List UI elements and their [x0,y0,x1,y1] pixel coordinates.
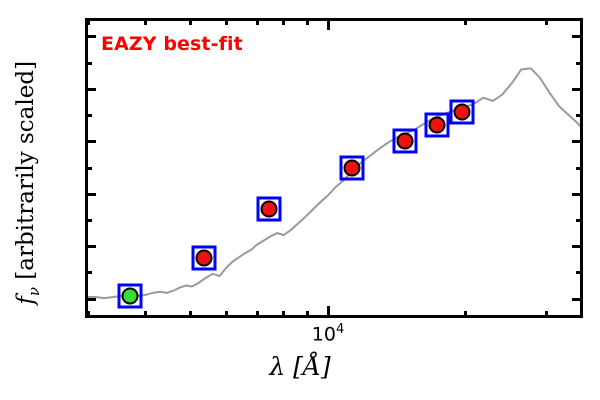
y-tick-minor-1 [85,219,92,222]
y-tick-major-2 [85,193,96,196]
x-tick-minor-top-1 [144,18,147,25]
x-tick-minor-top-8 [545,18,548,25]
x-tick-minor-top-4 [256,18,259,25]
y-tick-minor-3 [85,114,92,117]
photometry-point-5 [429,116,446,133]
y-tick-major-right-5 [572,35,583,38]
x-tick-minor-top-2 [189,18,192,25]
y-axis-title: fν [arbitrarily scaled] [13,33,43,333]
x-tick-minor-3 [225,311,228,318]
x-tick-minor-top-0 [87,18,90,25]
x-tick-minor-4 [256,311,259,318]
best-fit-annotation: EAZY best-fit [101,33,243,55]
x-tick-major-top-0 [327,18,330,30]
photometry-point-1 [195,250,212,267]
y-axis-unit: [arbitrarily scaled] [13,61,39,287]
y-tick-major-3 [85,140,96,143]
x-tick-minor-6 [306,311,309,318]
photometry-point-0 [122,287,139,304]
y-axis-subscript: ν [25,287,43,296]
x-tick-minor-top-3 [225,18,228,25]
x-tick-minor-top-5 [282,18,285,25]
x-axis-symbol: λ [269,352,285,381]
y-tick-major-right-1 [572,245,583,248]
x-tick-minor-5 [282,311,285,318]
photometry-point-2 [261,200,278,217]
y-tick-minor-right-1 [576,219,583,222]
x-tick-minor-2 [189,311,192,318]
x-tick-exponent: 4 [336,322,344,337]
photometry-point-4 [396,132,413,149]
y-tick-minor-0 [85,271,92,274]
x-tick-major-0 [327,306,330,318]
y-tick-major-1 [85,245,96,248]
x-tick-minor-8 [545,311,548,318]
x-tick-label-1e4: 104 [312,322,344,345]
y-tick-minor-4 [85,62,92,65]
x-tick-minor-1 [144,311,147,318]
y-tick-minor-right-3 [576,114,583,117]
spectrum-curve [88,21,580,315]
y-tick-major-right-0 [572,298,583,301]
x-tick-minor-7 [464,311,467,318]
y-tick-major-4 [85,88,96,91]
y-tick-minor-right-0 [576,271,583,274]
x-axis-title: λ [Å] [0,352,600,381]
photometry-point-3 [344,160,361,177]
y-tick-minor-right-2 [576,167,583,170]
y-tick-major-5 [85,35,96,38]
y-tick-minor-2 [85,167,92,170]
y-axis-symbol: f [13,296,39,305]
x-tick-minor-top-7 [464,18,467,25]
x-tick-minor-top-6 [306,18,309,25]
photometry-point-6 [453,104,470,121]
x-tick-minor-0 [87,311,90,318]
y-tick-minor-right-4 [576,62,583,65]
y-tick-major-right-2 [572,193,583,196]
figure-canvas: 0.00.51.01.52.02.5 104 fν [arbitrarily s… [0,0,600,400]
y-tick-major-right-4 [572,88,583,91]
plot-area [85,18,583,318]
y-tick-major-right-3 [572,140,583,143]
y-tick-major-0 [85,298,96,301]
x-tick-mantissa: 10 [312,323,336,345]
x-axis-unit: [Å] [293,352,331,381]
